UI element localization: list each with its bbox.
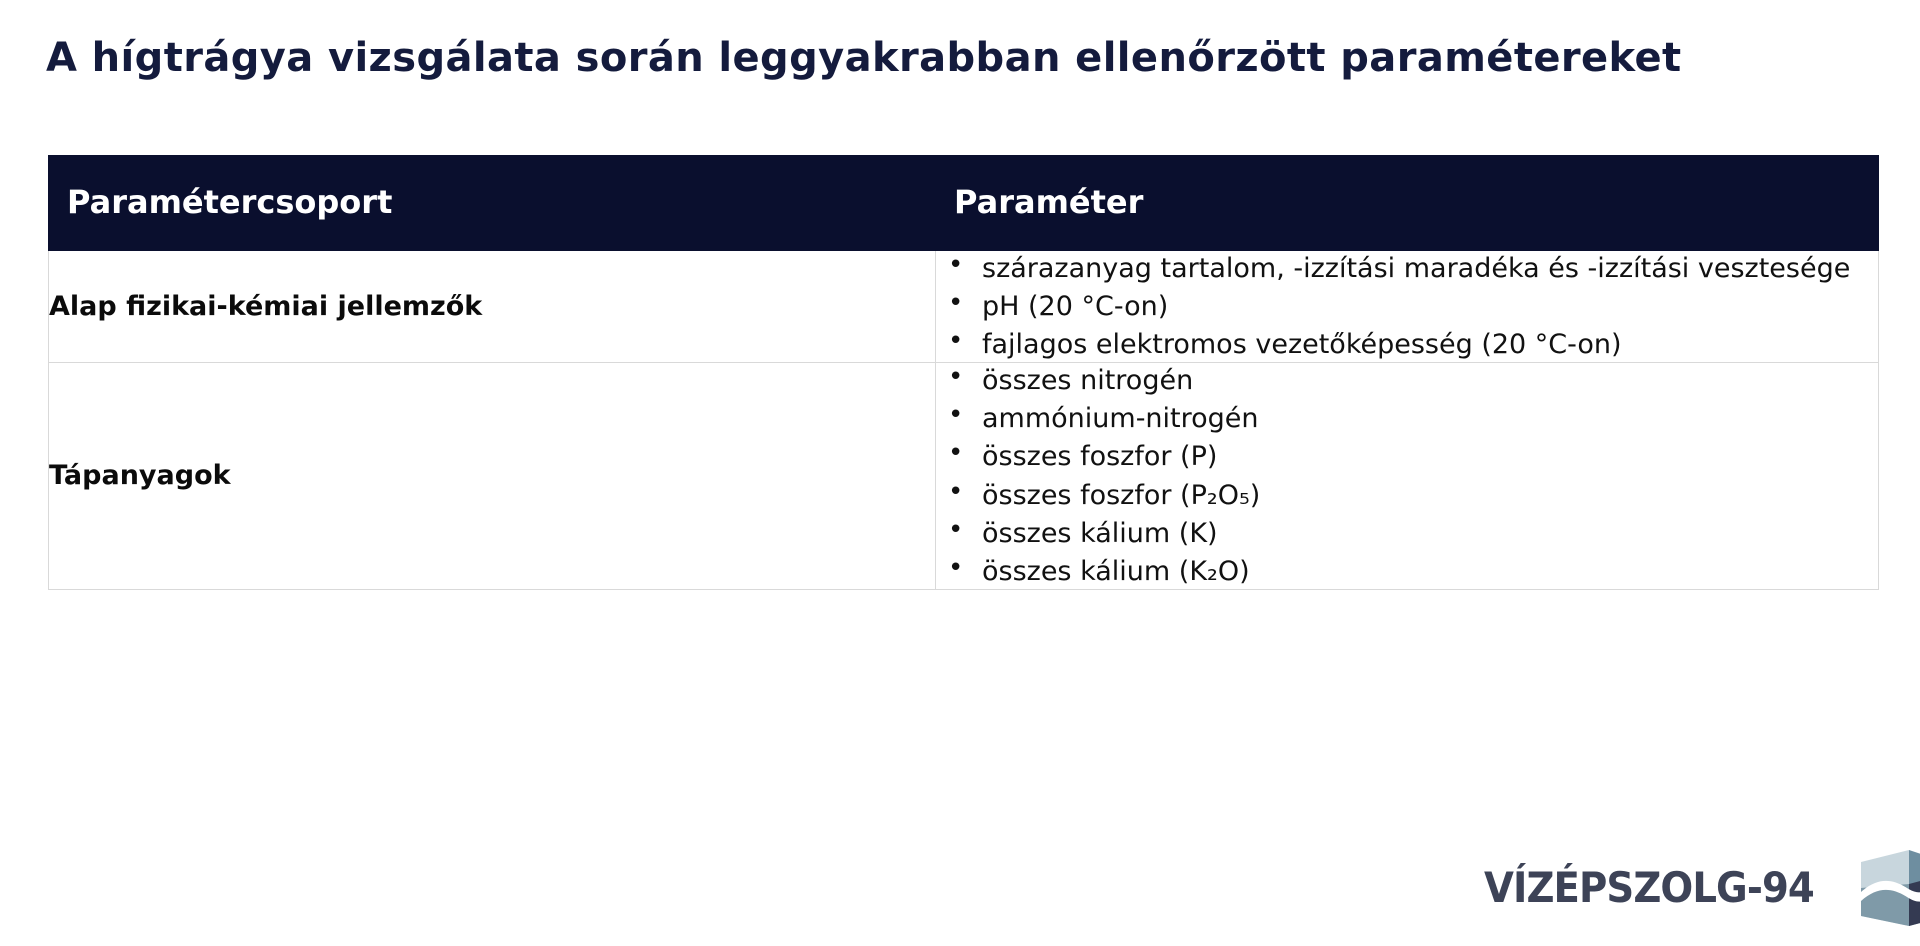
table-body: Alap fizikai-kémiai jellemzők szárazanya… (49, 251, 1879, 590)
table-row: Alap fizikai-kémiai jellemzők szárazanya… (49, 251, 1879, 363)
cell-group-name: Tápanyagok (49, 363, 936, 590)
list-item: összes nitrogén (936, 363, 1878, 398)
list-item: fajlagos elektromos vezetőképesség (20 °… (936, 327, 1878, 362)
cube-wave-logo-icon (1857, 848, 1920, 928)
table-header-row: Paramétercsoport Paraméter (49, 156, 1879, 251)
list-item: szárazanyag tartalom, -izzítási maradéka… (936, 251, 1878, 286)
page-title: A hígtrágya vizsgálata során leggyakrabb… (46, 34, 1876, 82)
parameter-list: összes nitrogén ammónium-nitrogén összes… (936, 363, 1878, 589)
parameter-table: Paramétercsoport Paraméter Alap fizikai-… (48, 155, 1879, 590)
list-item: összes foszfor (P) (936, 439, 1878, 474)
table-header: Paramétercsoport Paraméter (49, 156, 1879, 251)
list-item: pH (20 °C-on) (936, 289, 1878, 324)
cell-parameter-list: szárazanyag tartalom, -izzítási maradéka… (936, 251, 1879, 363)
column-header-parametercsoport: Paramétercsoport (49, 156, 936, 251)
list-item: ammónium-nitrogén (936, 401, 1878, 436)
list-item: összes kálium (K) (936, 516, 1878, 551)
parameter-table-container: Paramétercsoport Paraméter Alap fizikai-… (48, 155, 1878, 590)
cell-parameter-list: összes nitrogén ammónium-nitrogén összes… (936, 363, 1879, 590)
parameter-list: szárazanyag tartalom, -izzítási maradéka… (936, 251, 1878, 362)
logo-wordmark: VÍZÉPSZOLG-94 (1484, 867, 1814, 909)
column-header-parameter: Paraméter (936, 156, 1879, 251)
table-row: Tápanyagok összes nitrogén ammónium-nitr… (49, 363, 1879, 590)
cell-group-name: Alap fizikai-kémiai jellemzők (49, 251, 936, 363)
list-item: összes foszfor (P₂O₅) (936, 478, 1878, 513)
list-item: összes kálium (K₂O) (936, 554, 1878, 589)
company-logo: VÍZÉPSZOLG-94 (1484, 848, 1920, 928)
